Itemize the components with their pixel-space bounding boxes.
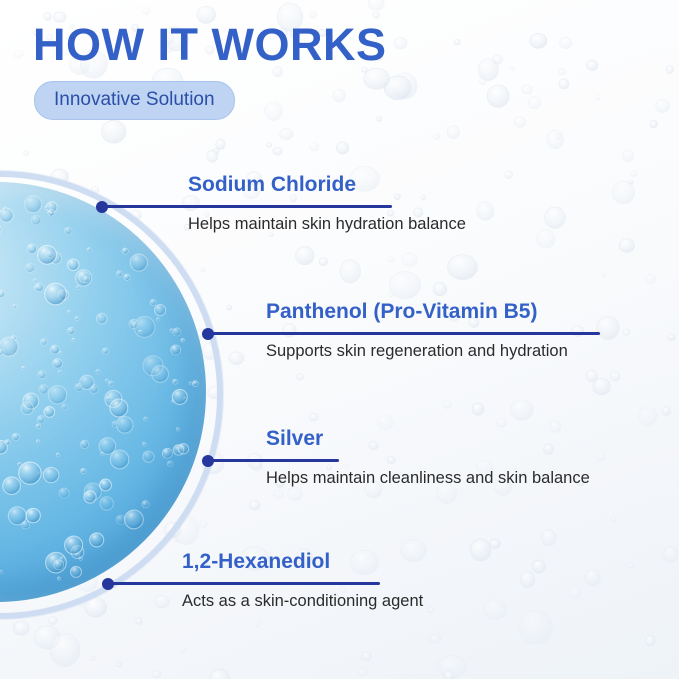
leader-dot-icon [96,201,108,213]
callout-description: Acts as a skin-conditioning agent [182,592,423,610]
leader-line [108,582,380,585]
subtitle-badge: Innovative Solution [34,81,235,120]
callout-description: Helps maintain cleanliness and skin bala… [266,469,590,487]
infographic-canvas: HOW IT WORKS Innovative Solution Sodium … [0,0,679,679]
callout-title: 1,2-Hexanediol [182,551,330,573]
callout-title: Sodium Chloride [188,174,356,196]
leader-line [208,332,600,335]
leader-dot-icon [202,328,214,340]
gel-bubbles [0,182,206,602]
gel-inner-circle [0,182,206,602]
leader-line [208,459,339,462]
leader-dot-icon [202,455,214,467]
callout-title: Panthenol (Pro-Vitamin B5) [266,301,537,323]
header: HOW IT WORKS Innovative Solution [33,22,386,120]
callout-title: Silver [266,428,323,450]
leader-line [102,205,392,208]
callout-description: Helps maintain skin hydration balance [188,215,466,233]
callout-description: Supports skin regeneration and hydration [266,342,568,360]
leader-dot-icon [102,578,114,590]
page-title: HOW IT WORKS [33,22,386,67]
